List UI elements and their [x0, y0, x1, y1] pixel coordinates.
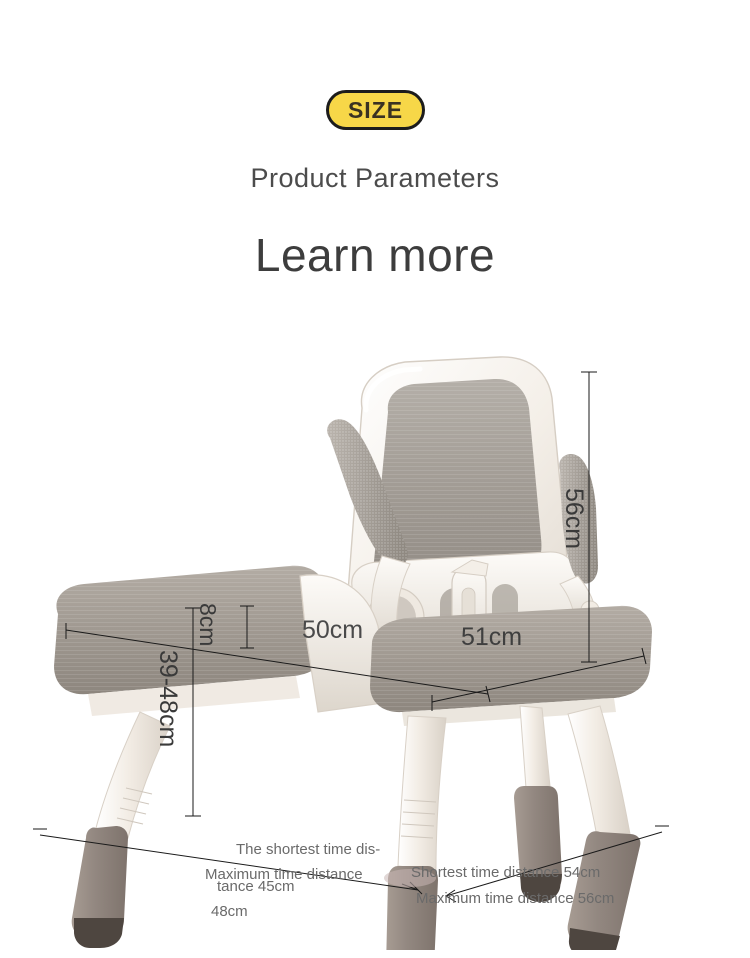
product-parameters-page: SIZE Product Parameters Learn more	[0, 0, 750, 958]
note-left-line-4: 48cm	[211, 903, 248, 920]
note-right-line-1: Shortest time distance 54cm	[411, 864, 600, 881]
chair-leg-front-center	[386, 716, 446, 950]
label-seat-depth: 51cm	[461, 623, 522, 652]
label-seat-width: 50cm	[302, 616, 363, 645]
label-seat-height-range: 39-48cm	[153, 650, 182, 747]
page-subtitle: Product Parameters	[0, 163, 750, 194]
label-back-height: 56cm	[559, 488, 588, 549]
size-badge-label: SIZE	[348, 97, 403, 124]
label-seat-thickness: 8cm	[194, 603, 221, 646]
chair-leg-front-right	[568, 706, 641, 950]
note-left-line-1: The shortest time dis-	[236, 841, 380, 858]
chair-leg-rear-left	[72, 712, 170, 948]
note-left-line-2: tance 45cm	[217, 878, 295, 895]
chair-diagram	[0, 350, 750, 950]
note-right-line-2: Maximum time distance 56cm	[416, 890, 614, 907]
page-title: Learn more	[0, 228, 750, 282]
chair-illustration-stage	[0, 350, 750, 950]
size-badge: SIZE	[326, 90, 425, 130]
